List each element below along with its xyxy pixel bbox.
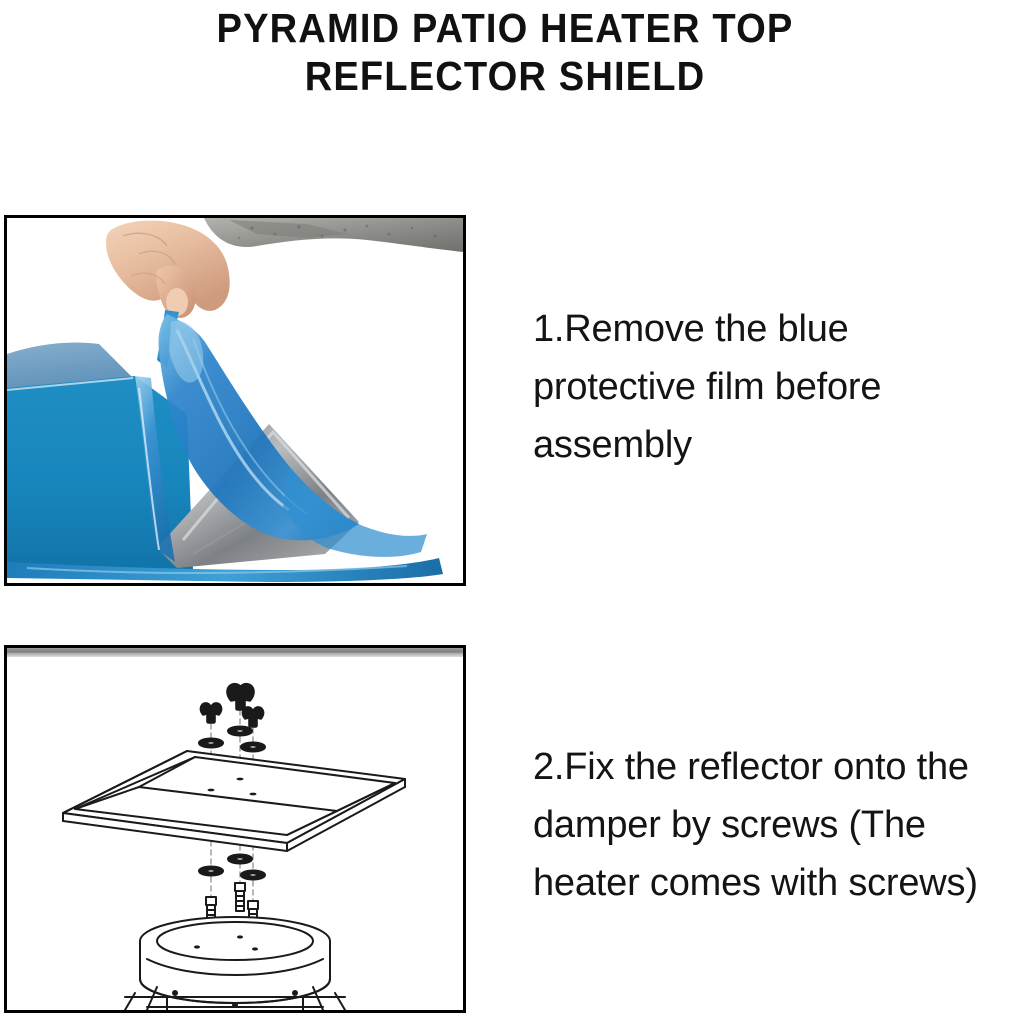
page-title: PYRAMID PATIO HEATER TOP REFLECTOR SHIEL… (35, 0, 974, 100)
step-1-text: 1.Remove the blue protective film before… (533, 300, 1003, 474)
page-title-line-2: REFLECTOR SHIELD (35, 52, 974, 100)
film-peel-illustration (7, 218, 463, 583)
washer (228, 727, 252, 736)
washer (241, 743, 265, 752)
washer (199, 739, 223, 748)
page-title-line-1: PYRAMID PATIO HEATER TOP (35, 4, 974, 52)
film-peel-photo (7, 218, 463, 583)
instruction-sheet: PYRAMID PATIO HEATER TOP REFLECTOR SHIEL… (0, 0, 1010, 1024)
assembly-line-drawing (7, 657, 463, 1010)
washer (241, 871, 265, 880)
diagram-top-bar (7, 648, 463, 657)
step-2-image-panel (4, 645, 466, 1013)
damper (140, 917, 330, 1003)
step-1-image-panel (4, 215, 466, 586)
step-2-text: 2.Fix the reflector onto the damper by s… (533, 738, 1003, 912)
assembly-diagram (7, 657, 463, 1010)
screw (235, 883, 245, 911)
washer (228, 855, 252, 864)
washer (199, 867, 223, 876)
